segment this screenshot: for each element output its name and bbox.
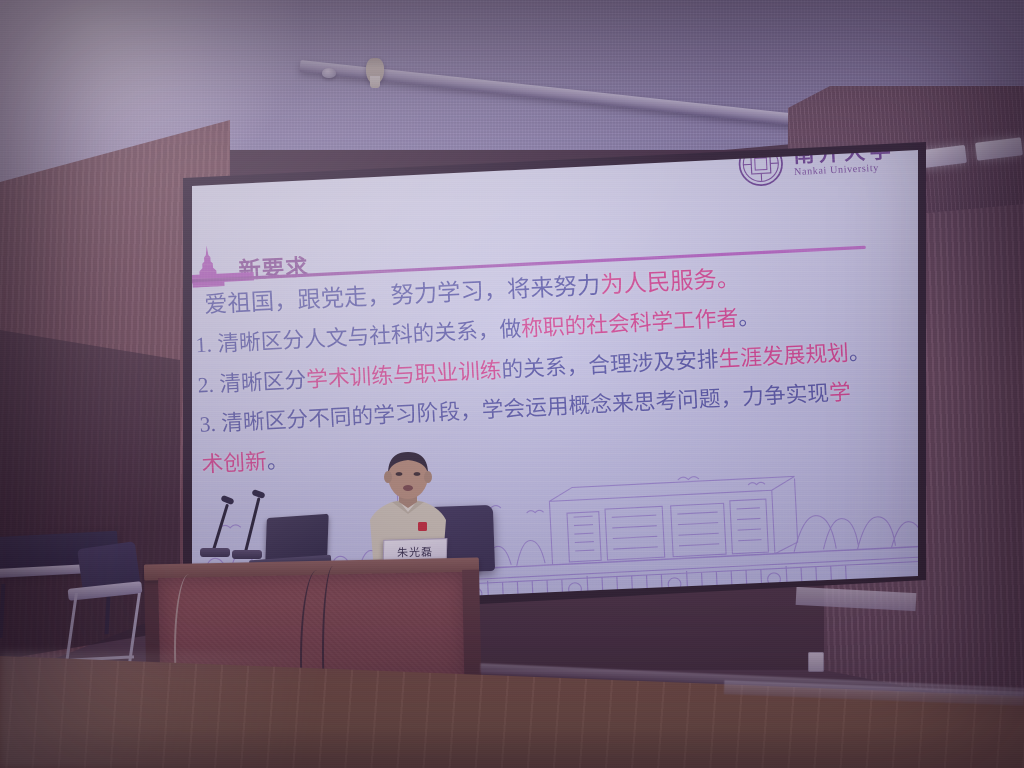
laptop[interactable] <box>265 514 328 563</box>
slide-line-2-segment-0: 2. 清晰区分 <box>197 369 307 398</box>
slide-line-2-segment-4: 。 <box>848 341 871 365</box>
slide-line-0-segment-1: 为人民服务。 <box>600 265 741 298</box>
wall-outlet-icon <box>808 652 824 672</box>
slide-line-2-segment-3: 生涯发展规划 <box>718 342 849 372</box>
slide-line-2-segment-2: 的关系，合理涉及安排 <box>501 348 719 382</box>
microphone-1-base <box>200 548 230 557</box>
slide-line-1-segment-0: 1. 清晰区分人文与社科的关系，做 <box>195 318 522 357</box>
page-title: 新要求 <box>238 257 309 286</box>
folding-chair <box>62 545 144 665</box>
slide-line-2-segment-1: 学术训练与职业训练 <box>306 359 502 392</box>
slide-line-3-segment-1: 学 <box>828 381 851 405</box>
slide-line-1-segment-2: 。 <box>738 306 761 330</box>
slide-line-1-segment-1: 称职的社会科学工作者 <box>521 307 739 341</box>
ceiling-lamp-icon <box>366 58 384 84</box>
chair-legs <box>65 593 141 663</box>
nankai-name-en: Nankai University <box>794 164 896 180</box>
lecture-hall-scene: 南开大学 Nankai University 新要求 爱祖国，跟党走，努力学习，… <box>0 0 1024 768</box>
smoke-detector-icon <box>322 68 336 78</box>
microphone-2-base <box>232 550 262 559</box>
